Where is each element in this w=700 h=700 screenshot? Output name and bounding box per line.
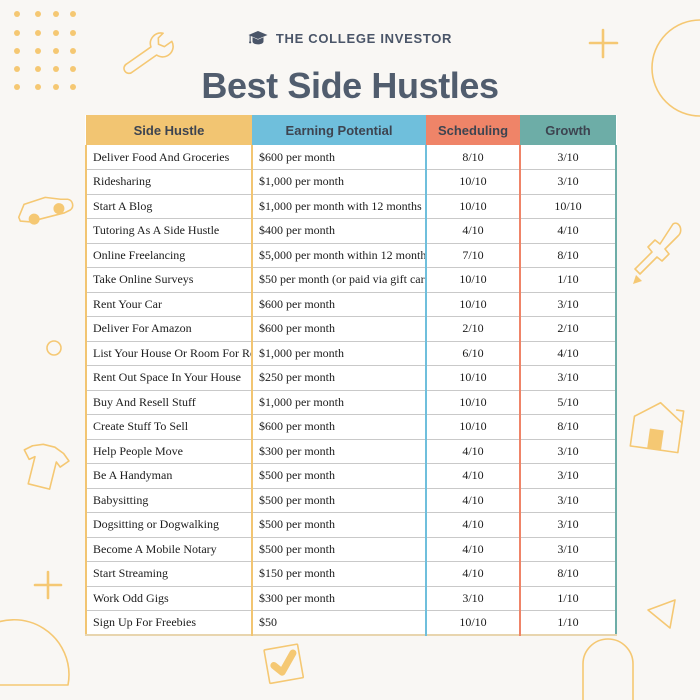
cell-earning-potential: $250 per month xyxy=(252,366,426,391)
cell-scheduling: 2/10 xyxy=(426,317,520,342)
cell-scheduling: 4/10 xyxy=(426,537,520,562)
table-row: Create Stuff To Sell$600 per month10/108… xyxy=(86,415,616,440)
column-header-earning-potential: Earning Potential xyxy=(252,115,426,145)
cell-growth: 5/10 xyxy=(520,390,616,415)
cell-scheduling: 10/10 xyxy=(426,390,520,415)
cell-scheduling: 7/10 xyxy=(426,243,520,268)
table-row: Deliver Food And Groceries$600 per month… xyxy=(86,145,616,170)
cell-growth: 8/10 xyxy=(520,243,616,268)
cell-earning-potential: $400 per month xyxy=(252,219,426,244)
brand-name: THE COLLEGE INVESTOR xyxy=(276,31,452,46)
table-row: Be A Handyman$500 per month4/103/10 xyxy=(86,464,616,489)
cell-side-hustle: Be A Handyman xyxy=(86,464,252,489)
table-row: Online Freelancing$5,000 per month withi… xyxy=(86,243,616,268)
brand-logo: THE COLLEGE INVESTOR xyxy=(248,28,452,48)
table-row: Take Online Surveys$50 per month (or pai… xyxy=(86,268,616,293)
column-header-growth: Growth xyxy=(520,115,616,145)
cell-scheduling: 10/10 xyxy=(426,268,520,293)
cell-scheduling: 4/10 xyxy=(426,219,520,244)
cell-scheduling: 4/10 xyxy=(426,513,520,538)
cell-scheduling: 10/10 xyxy=(426,170,520,195)
cell-scheduling: 10/10 xyxy=(426,366,520,391)
cell-growth: 3/10 xyxy=(520,439,616,464)
cell-side-hustle: Deliver Food And Groceries xyxy=(86,145,252,170)
cell-growth: 8/10 xyxy=(520,415,616,440)
cell-side-hustle: Online Freelancing xyxy=(86,243,252,268)
cell-growth: 4/10 xyxy=(520,341,616,366)
graduation-cap-icon xyxy=(248,30,268,46)
cell-scheduling: 10/10 xyxy=(426,415,520,440)
cell-earning-potential: $600 per month xyxy=(252,145,426,170)
table-row: Start A Blog$1,000 per month with 12 mon… xyxy=(86,194,616,219)
cell-side-hustle: Dogsitting or Dogwalking xyxy=(86,513,252,538)
table-row: Ridesharing$1,000 per month10/103/10 xyxy=(86,170,616,195)
screwdriver-icon xyxy=(633,223,681,284)
table-row: Sign Up For Freebies$5010/101/10 xyxy=(86,611,616,636)
quarter-circle-icon xyxy=(0,620,69,685)
table-row: Start Streaming$150 per month4/108/10 xyxy=(86,562,616,587)
cell-earning-potential: $500 per month xyxy=(252,537,426,562)
cell-earning-potential: $500 per month xyxy=(252,464,426,489)
cell-scheduling: 4/10 xyxy=(426,562,520,587)
cell-side-hustle: Work Odd Gigs xyxy=(86,586,252,611)
cell-scheduling: 8/10 xyxy=(426,145,520,170)
car-icon xyxy=(17,194,75,227)
cell-earning-potential: $50 per month (or paid via gift card) xyxy=(252,268,426,293)
table-row: Babysitting$500 per month4/103/10 xyxy=(86,488,616,513)
cell-scheduling: 4/10 xyxy=(426,488,520,513)
cell-growth: 3/10 xyxy=(520,513,616,538)
table-row: Deliver For Amazon$600 per month2/102/10 xyxy=(86,317,616,342)
cell-growth: 1/10 xyxy=(520,611,616,636)
page-title: Best Side Hustles xyxy=(0,65,700,107)
cell-growth: 10/10 xyxy=(520,194,616,219)
cell-scheduling: 4/10 xyxy=(426,439,520,464)
cell-earning-potential: $1,000 per month with 12 months xyxy=(252,194,426,219)
table-header: Side Hustle Earning Potential Scheduling… xyxy=(86,115,616,145)
cell-side-hustle: Babysitting xyxy=(86,488,252,513)
cell-growth: 1/10 xyxy=(520,586,616,611)
cell-earning-potential: $500 per month xyxy=(252,488,426,513)
cell-earning-potential: $600 per month xyxy=(252,292,426,317)
cell-side-hustle: Start Streaming xyxy=(86,562,252,587)
table-row: Tutoring As A Side Hustle$400 per month4… xyxy=(86,219,616,244)
checkbox-check-icon xyxy=(264,644,303,683)
table-row: Rent Out Space In Your House$250 per mon… xyxy=(86,366,616,391)
cell-scheduling: 4/10 xyxy=(426,464,520,489)
cell-earning-potential: $5,000 per month within 12 months xyxy=(252,243,426,268)
cell-earning-potential: $150 per month xyxy=(252,562,426,587)
cell-side-hustle: Ridesharing xyxy=(86,170,252,195)
cell-side-hustle: Rent Out Space In Your House xyxy=(86,366,252,391)
triangle-icon xyxy=(648,600,675,628)
cell-earning-potential: $50 xyxy=(252,611,426,636)
table-row: Buy And Resell Stuff$1,000 per month10/1… xyxy=(86,390,616,415)
cell-scheduling: 3/10 xyxy=(426,586,520,611)
house-icon xyxy=(630,399,684,452)
cell-earning-potential: $500 per month xyxy=(252,513,426,538)
tshirt-icon xyxy=(17,440,72,492)
column-header-scheduling: Scheduling xyxy=(426,115,520,145)
small-circle-icon xyxy=(47,341,61,355)
side-hustles-table-container: Side Hustle Earning Potential Scheduling… xyxy=(85,115,615,636)
cell-earning-potential: $300 per month xyxy=(252,586,426,611)
cell-growth: 3/10 xyxy=(520,145,616,170)
plus-icon xyxy=(35,572,61,598)
cell-earning-potential: $600 per month xyxy=(252,317,426,342)
table-row: Work Odd Gigs$300 per month3/101/10 xyxy=(86,586,616,611)
cell-growth: 8/10 xyxy=(520,562,616,587)
cell-side-hustle: Deliver For Amazon xyxy=(86,317,252,342)
cell-growth: 3/10 xyxy=(520,488,616,513)
cell-earning-potential: $300 per month xyxy=(252,439,426,464)
cell-growth: 2/10 xyxy=(520,317,616,342)
cell-growth: 3/10 xyxy=(520,366,616,391)
cell-side-hustle: Help People Move xyxy=(86,439,252,464)
cell-earning-potential: $600 per month xyxy=(252,415,426,440)
cell-earning-potential: $1,000 per month xyxy=(252,341,426,366)
cell-side-hustle: Tutoring As A Side Hustle xyxy=(86,219,252,244)
cell-scheduling: 10/10 xyxy=(426,292,520,317)
cell-side-hustle: Rent Your Car xyxy=(86,292,252,317)
cell-growth: 3/10 xyxy=(520,464,616,489)
side-hustles-table: Side Hustle Earning Potential Scheduling… xyxy=(85,115,617,636)
cell-side-hustle: Buy And Resell Stuff xyxy=(86,390,252,415)
table-row: Dogsitting or Dogwalking$500 per month4/… xyxy=(86,513,616,538)
cell-scheduling: 10/10 xyxy=(426,194,520,219)
table-row: List Your House Or Room For Rent$1,000 p… xyxy=(86,341,616,366)
table-row: Rent Your Car$600 per month10/103/10 xyxy=(86,292,616,317)
cell-side-hustle: Create Stuff To Sell xyxy=(86,415,252,440)
arch-icon xyxy=(583,639,633,700)
table-body: Deliver Food And Groceries$600 per month… xyxy=(86,145,616,635)
cell-growth: 3/10 xyxy=(520,292,616,317)
cell-side-hustle: Sign Up For Freebies xyxy=(86,611,252,636)
cell-earning-potential: $1,000 per month xyxy=(252,390,426,415)
table-row: Help People Move$300 per month4/103/10 xyxy=(86,439,616,464)
cell-growth: 1/10 xyxy=(520,268,616,293)
cell-earning-potential: $1,000 per month xyxy=(252,170,426,195)
table-row: Become A Mobile Notary$500 per month4/10… xyxy=(86,537,616,562)
cell-side-hustle: Become A Mobile Notary xyxy=(86,537,252,562)
cell-side-hustle: List Your House Or Room For Rent xyxy=(86,341,252,366)
cell-side-hustle: Start A Blog xyxy=(86,194,252,219)
cell-scheduling: 10/10 xyxy=(426,611,520,636)
cell-growth: 3/10 xyxy=(520,537,616,562)
page-header: THE COLLEGE INVESTOR Best Side Hustles xyxy=(0,0,700,107)
column-header-side-hustle: Side Hustle xyxy=(86,115,252,145)
cell-side-hustle: Take Online Surveys xyxy=(86,268,252,293)
table-header-row: Side Hustle Earning Potential Scheduling… xyxy=(86,115,616,145)
cell-scheduling: 6/10 xyxy=(426,341,520,366)
cell-growth: 3/10 xyxy=(520,170,616,195)
cell-growth: 4/10 xyxy=(520,219,616,244)
